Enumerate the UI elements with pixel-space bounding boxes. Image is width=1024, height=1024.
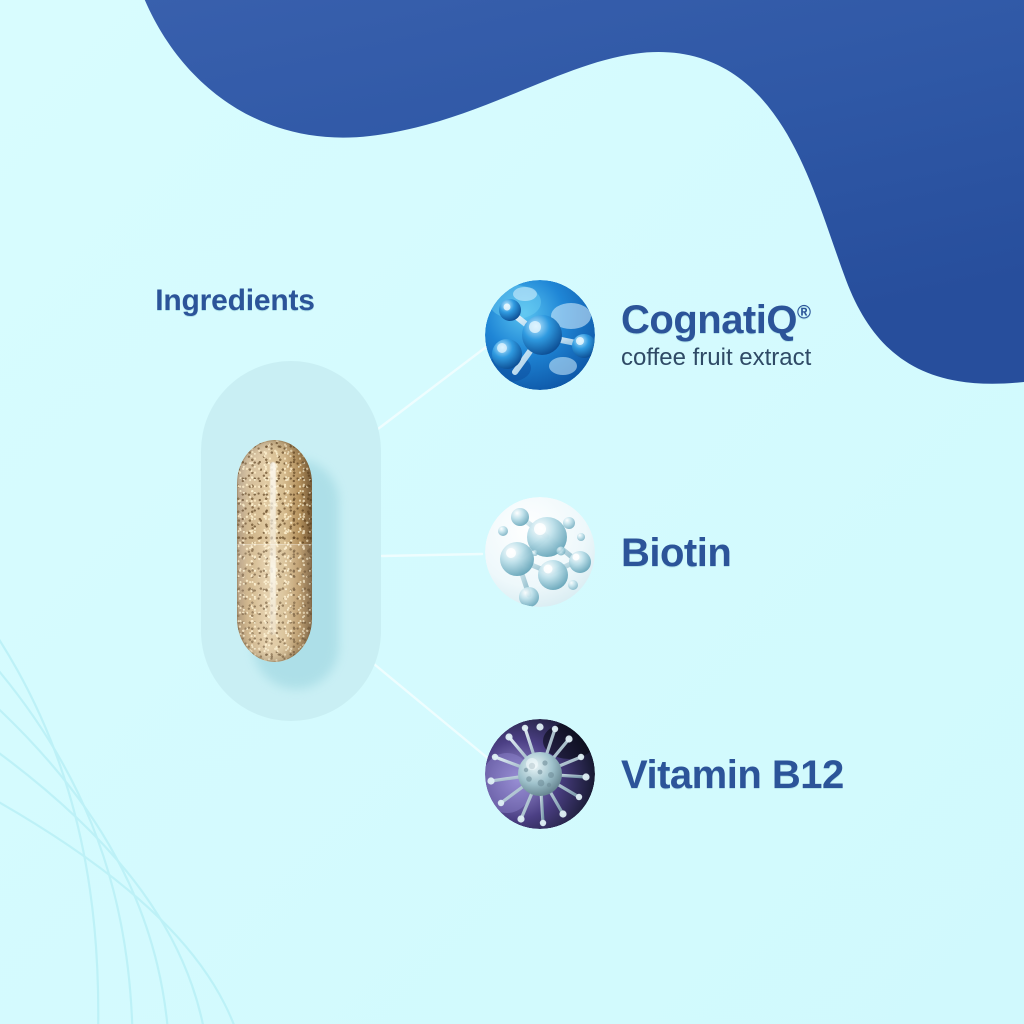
blue-molecule-sphere-icon [485,280,595,390]
ingredient-name: Vitamin B12 [621,754,844,796]
ingredient-name-text: CognatiQ [621,298,797,342]
spiky-virus-molecule-icon [485,719,595,829]
ingredient-name-text: Vitamin B12 [621,753,844,797]
ingredient-text: Vitamin B12 [621,752,844,796]
capsule-rim [237,440,312,662]
ingredient-row[interactable]: CognatiQ® coffee fruit extract [485,280,811,390]
ingredients-infographic: Ingredients [0,0,1024,1024]
page-title: Ingredients [0,284,470,318]
ingredient-text: CognatiQ® coffee fruit extract [621,297,811,373]
ingredient-name-text: Biotin [621,531,731,575]
capsule-visual [201,361,381,721]
ingredient-row[interactable]: Vitamin B12 [485,719,844,829]
water-molecule-cluster-icon [485,497,595,607]
ingredient-text: Biotin [621,530,731,574]
ingredient-name: CognatiQ® [621,299,811,341]
supplement-capsule-icon [237,440,312,662]
ingredient-subtitle: coffee fruit extract [621,344,811,373]
ingredient-name: Biotin [621,532,731,574]
ingredient-row[interactable]: Biotin [485,497,731,607]
registered-trademark-icon: ® [797,303,811,324]
